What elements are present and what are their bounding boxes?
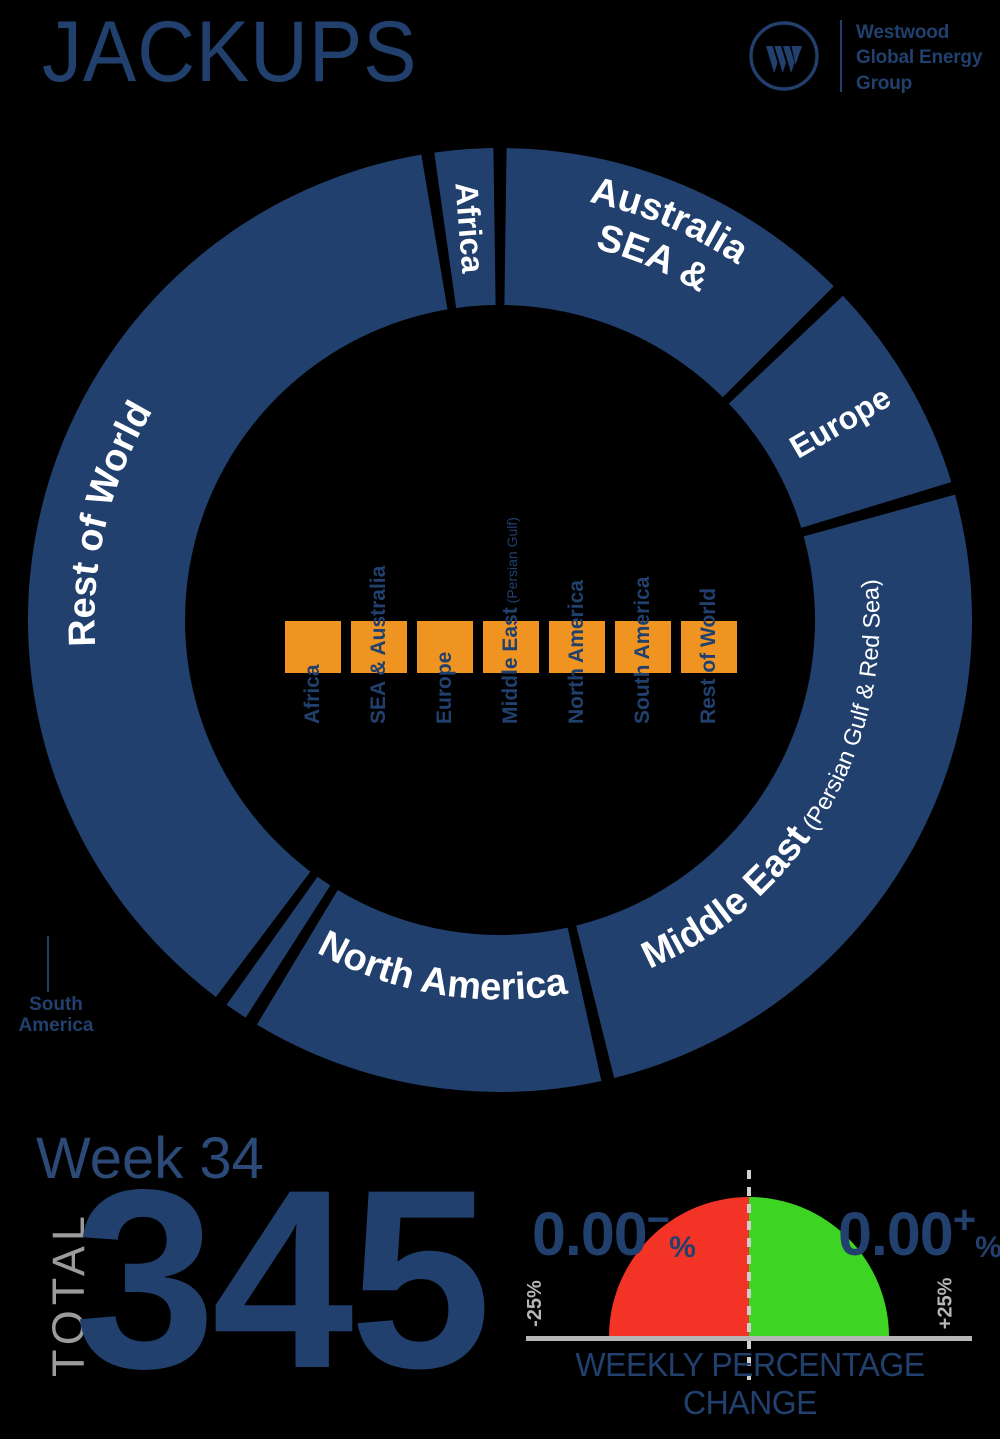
weekly-change-bar-chart: AfricaSEA & AustraliaEuropeMiddle East (… — [210, 616, 790, 946]
gauge-caption: WEEKLY PERCENTAGE CHANGE — [527, 1346, 973, 1422]
south-america-callout-line-1: South — [8, 994, 104, 1015]
page-header: JACKUPS Westwood Global Energy Group — [0, 0, 1000, 130]
logo-line-3: Group — [856, 71, 982, 96]
bar-category-label: Rest of World — [681, 684, 737, 708]
gauge-positive-number: 0.00 — [838, 1200, 953, 1268]
westwood-logo: Westwood Global Energy Group — [748, 16, 988, 98]
bar-category-sublabel: (Persian Gulf) — [504, 517, 520, 607]
page-title: JACKUPS — [42, 6, 417, 99]
axis-cap-left — [215, 626, 221, 650]
logo-line-2: Global Energy — [856, 45, 982, 70]
gauge-positive-percent-symbol: % — [975, 1231, 1000, 1264]
axis-cap-right — [779, 626, 785, 650]
bar-category-label: Africa — [285, 684, 341, 708]
gauge-scale-min-label: -25% — [524, 1280, 547, 1327]
gauge-positive-value: 0.00+% — [838, 1198, 1000, 1269]
logo-divider — [840, 20, 842, 92]
logo-line-1: Westwood — [856, 20, 982, 45]
bar-category-label: North America — [549, 684, 605, 708]
south-america-callout-label: South America — [8, 994, 104, 1037]
bar-category-label: SEA & Australia — [351, 684, 407, 708]
gauge-negative-number: 0.00 — [532, 1200, 647, 1268]
bar-category-label: South America — [615, 684, 671, 708]
south-america-callout-line-2: America — [8, 1015, 104, 1036]
gauge-negative-percent-symbol: % — [669, 1231, 695, 1264]
westwood-w-monogram-icon — [748, 20, 820, 92]
gauge-negative-sign: − — [647, 1198, 669, 1242]
bar-category-label: Europe — [417, 684, 473, 708]
gauge-baseline — [526, 1336, 972, 1341]
gauge-positive-sign: + — [953, 1198, 975, 1242]
weekly-percentage-change-gauge: 0.00−% 0.00+% -25% +25% WEEKLY PERCENTAG… — [520, 1170, 990, 1430]
gauge-scale-max-label: +25% — [934, 1278, 957, 1330]
total-value: 345 — [74, 1152, 487, 1407]
logo-wordmark: Westwood Global Energy Group — [856, 20, 982, 96]
south-america-leader-line — [47, 936, 49, 992]
bar-category-label: Middle East (Persian Gulf) — [483, 684, 539, 708]
gauge-negative-value: 0.00−% — [532, 1198, 695, 1269]
donut-segment-label: Africa — [448, 181, 491, 274]
